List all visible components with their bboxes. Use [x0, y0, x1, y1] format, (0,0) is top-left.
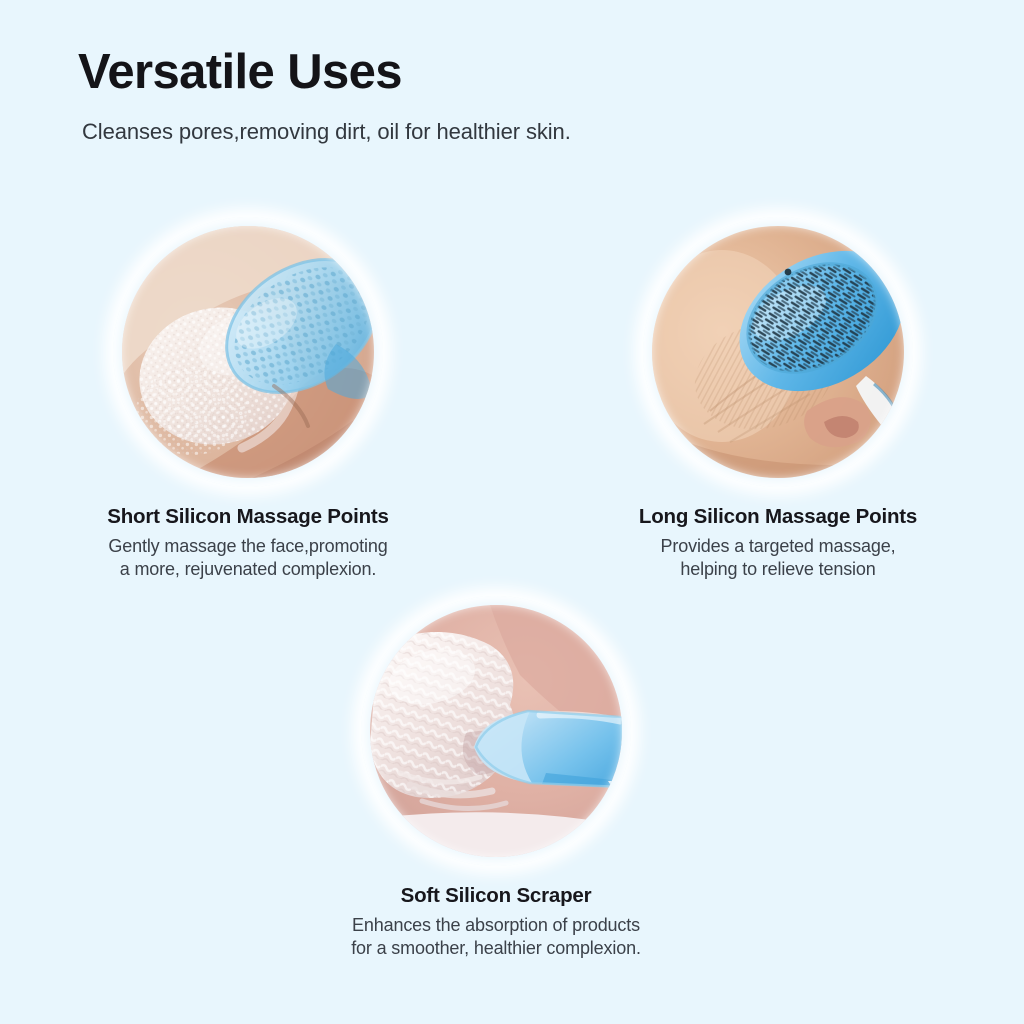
feature-title: Long Silicon Massage Points: [590, 505, 966, 529]
long-silicon-massage-points-photo: [652, 226, 904, 478]
caption-soft-silicon-scraper: Soft Silicon Scraper Enhances the absorp…: [290, 884, 702, 961]
feature-description: Gently massage the face,promoting a more…: [42, 535, 454, 582]
feature-title: Soft Silicon Scraper: [290, 884, 702, 908]
feature-soft-silicon-scraper: Soft Silicon Scraper Enhances the absorp…: [290, 605, 702, 961]
feature-description: Provides a targeted massage, helping to …: [590, 535, 966, 582]
caption-short-silicon-massage-points: Short Silicon Massage Points Gently mass…: [42, 505, 454, 582]
circle-frame-long: [652, 226, 904, 478]
feature-long-silicon-massage-points: Long Silicon Massage Points Provides a t…: [590, 226, 966, 582]
feature-description: Enhances the absorption of products for …: [290, 914, 702, 961]
circle-frame-soft: [370, 605, 622, 857]
feature-short-silicon-massage-points: Short Silicon Massage Points Gently mass…: [42, 226, 454, 582]
page-header: Versatile Uses Cleanses pores,removing d…: [78, 46, 571, 145]
caption-long-silicon-massage-points: Long Silicon Massage Points Provides a t…: [590, 505, 966, 582]
short-silicon-massage-points-photo: [122, 226, 374, 478]
page-title: Versatile Uses: [78, 46, 571, 99]
soft-silicon-scraper-photo: [370, 605, 622, 857]
feature-title: Short Silicon Massage Points: [42, 505, 454, 529]
page-subtitle: Cleanses pores,removing dirt, oil for he…: [82, 119, 571, 145]
circle-frame-short: [122, 226, 374, 478]
